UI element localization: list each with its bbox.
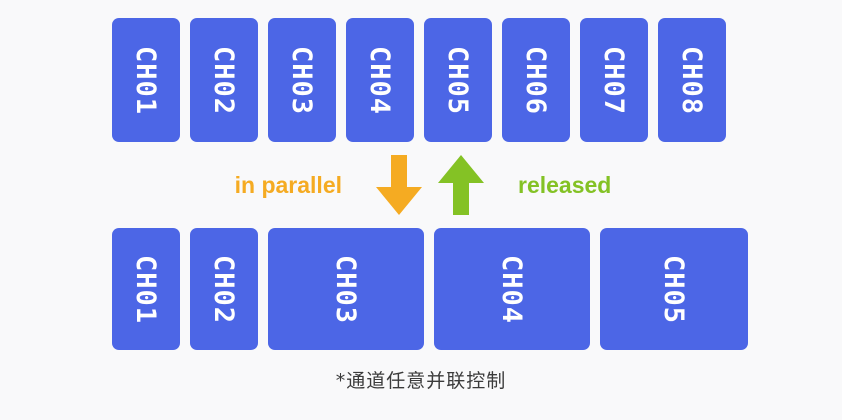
channel-card-ch04[interactable]: CH04 [346, 18, 414, 142]
channel-card-label: CH06 [523, 45, 550, 114]
transition-band: in parallel released [112, 152, 748, 218]
released-label: released [492, 174, 678, 197]
arrow-up-slot [430, 155, 492, 215]
in-parallel-label: in parallel [182, 174, 368, 197]
channel-card-label: CH04 [367, 45, 394, 114]
bottom-channel-row: CH01CH02CH03CH04CH05 [112, 228, 748, 350]
arrow-down-icon [376, 155, 422, 215]
channel-card-label: CH02 [211, 254, 238, 323]
channel-card-ch08[interactable]: CH08 [658, 18, 726, 142]
channel-card-label: CH05 [661, 254, 688, 323]
channel-card-label: CH03 [289, 45, 316, 114]
channel-card-ch05[interactable]: CH05 [600, 228, 748, 350]
channel-card-label: CH01 [133, 45, 160, 114]
channel-card-ch04[interactable]: CH04 [434, 228, 590, 350]
channel-card-ch07[interactable]: CH07 [580, 18, 648, 142]
channel-card-ch03[interactable]: CH03 [268, 228, 424, 350]
channel-card-label: CH03 [333, 254, 360, 323]
parallel-channel-diagram: CH01CH02CH03CH04CH05CH06CH07CH08 in para… [0, 0, 842, 420]
arrow-up-icon [438, 155, 484, 215]
channel-card-ch01[interactable]: CH01 [112, 228, 180, 350]
diagram-caption: *通道任意并联控制 [0, 366, 842, 393]
channel-card-ch06[interactable]: CH06 [502, 18, 570, 142]
channel-card-ch05[interactable]: CH05 [424, 18, 492, 142]
channel-card-label: CH07 [601, 45, 628, 114]
channel-card-label: CH01 [133, 254, 160, 323]
arrow-down-slot [368, 155, 430, 215]
channel-card-label: CH05 [445, 45, 472, 114]
channel-card-label: CH08 [679, 45, 706, 114]
channel-card-label: CH02 [211, 45, 238, 114]
channel-card-ch02[interactable]: CH02 [190, 228, 258, 350]
top-channel-row: CH01CH02CH03CH04CH05CH06CH07CH08 [112, 18, 726, 142]
channel-card-ch03[interactable]: CH03 [268, 18, 336, 142]
channel-card-ch02[interactable]: CH02 [190, 18, 258, 142]
channel-card-label: CH04 [499, 254, 526, 323]
channel-card-ch01[interactable]: CH01 [112, 18, 180, 142]
